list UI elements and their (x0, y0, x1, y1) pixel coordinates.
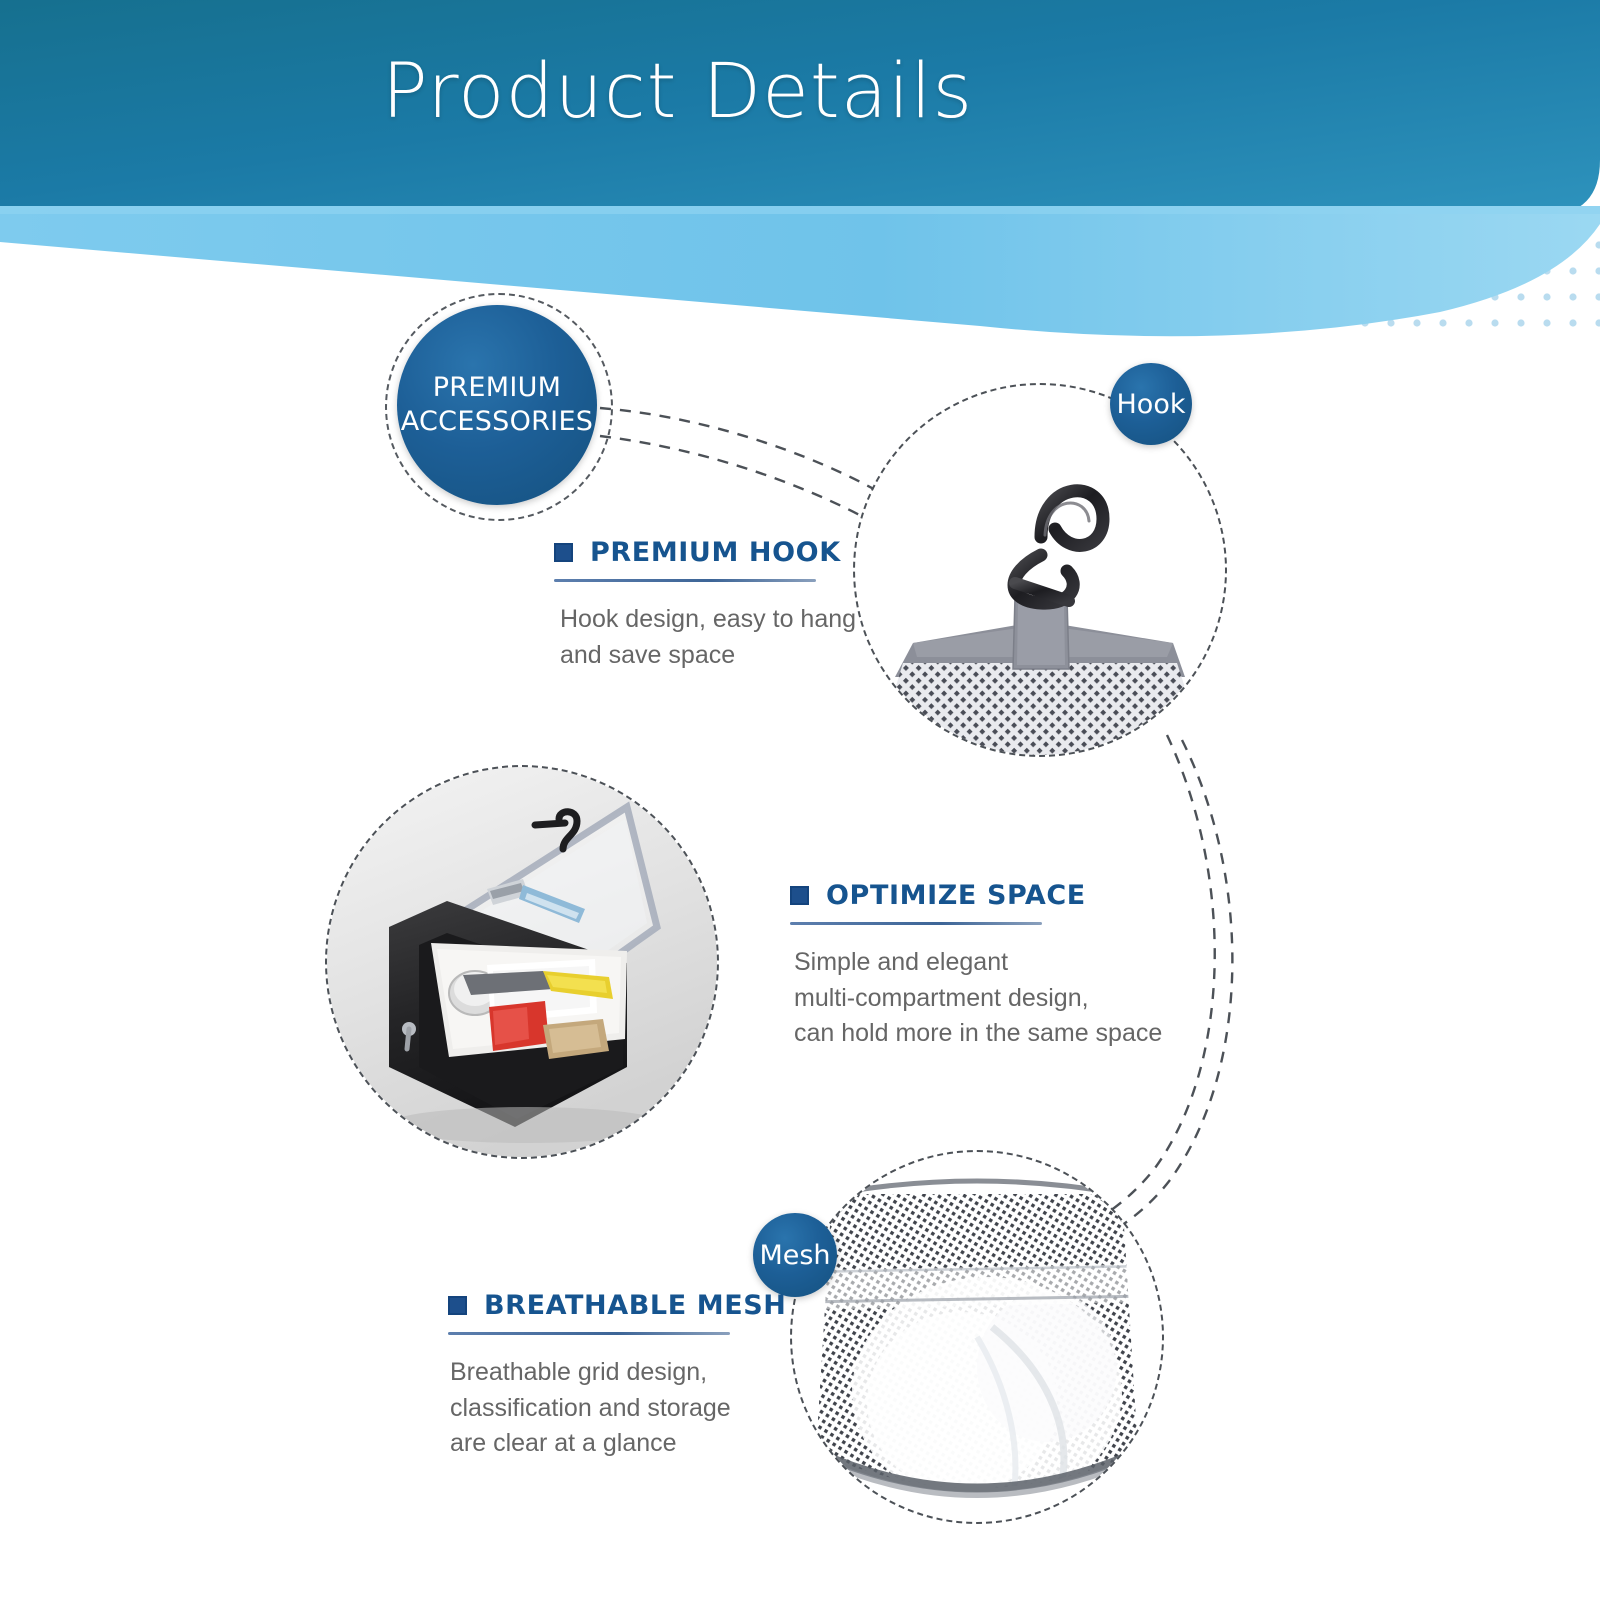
section-breathable-mesh-header: BREATHABLE MESH (448, 1290, 778, 1321)
section-premium-hook-header: PREMIUM HOOK (554, 537, 854, 568)
section-premium-hook-body-line-1: Hook design, easy to hang (560, 602, 854, 638)
section-optimize-space-header: OPTIMIZE SPACE (790, 880, 1130, 911)
connector-badge-to-hook-upper (600, 408, 893, 500)
section-premium-hook-title: PREMIUM HOOK (590, 537, 841, 568)
section-premium-hook-rule (554, 579, 816, 582)
section-breathable-mesh: BREATHABLE MESH Breathable grid design, … (448, 1290, 778, 1462)
premium-accessories-line-1: PREMIUM (401, 371, 594, 405)
section-breathable-mesh-title: BREATHABLE MESH (484, 1290, 787, 1321)
square-bullet-icon (790, 886, 809, 905)
page-title: Product Details (0, 46, 1355, 135)
section-premium-hook-body: Hook design, easy to hang and save space (560, 602, 854, 673)
premium-accessories-badge[interactable]: PREMIUM ACCESSORIES (397, 305, 597, 505)
mesh-badge[interactable]: Mesh (753, 1213, 837, 1297)
hook-badge[interactable]: Hook (1110, 363, 1192, 445)
section-premium-hook: PREMIUM HOOK Hook design, easy to hang a… (554, 537, 854, 673)
bag-photo (327, 767, 717, 1157)
product-details-infographic: Product Details (0, 0, 1600, 1600)
section-optimize-space-body: Simple and elegant multi-compartment des… (794, 945, 1130, 1052)
mesh-badge-label: Mesh (759, 1240, 830, 1271)
section-breathable-mesh-body-line-1: Breathable grid design, (450, 1355, 778, 1391)
section-breathable-mesh-body-line-2: classification and storage (450, 1391, 778, 1427)
mesh-photo (792, 1152, 1162, 1522)
section-optimize-space-title: OPTIMIZE SPACE (826, 880, 1086, 911)
premium-accessories-line-2: ACCESSORIES (401, 405, 594, 439)
section-breathable-mesh-rule (448, 1332, 730, 1335)
connector-badge-to-hook-lower (600, 436, 900, 538)
section-premium-hook-body-line-2: and save space (560, 638, 854, 674)
section-breathable-mesh-body-line-3: are clear at a glance (450, 1426, 778, 1462)
square-bullet-icon (554, 543, 573, 562)
section-optimize-space-body-line-3: can hold more in the same space (794, 1016, 1130, 1052)
section-optimize-space: OPTIMIZE SPACE Simple and elegant multi-… (790, 880, 1130, 1052)
section-optimize-space-body-line-1: Simple and elegant (794, 945, 1130, 981)
section-optimize-space-rule (790, 922, 1042, 925)
section-optimize-space-body-line-2: multi-compartment design, (794, 981, 1130, 1017)
hook-badge-label: Hook (1117, 389, 1186, 420)
section-breathable-mesh-body: Breathable grid design, classification a… (450, 1355, 778, 1462)
square-bullet-icon (448, 1296, 467, 1315)
